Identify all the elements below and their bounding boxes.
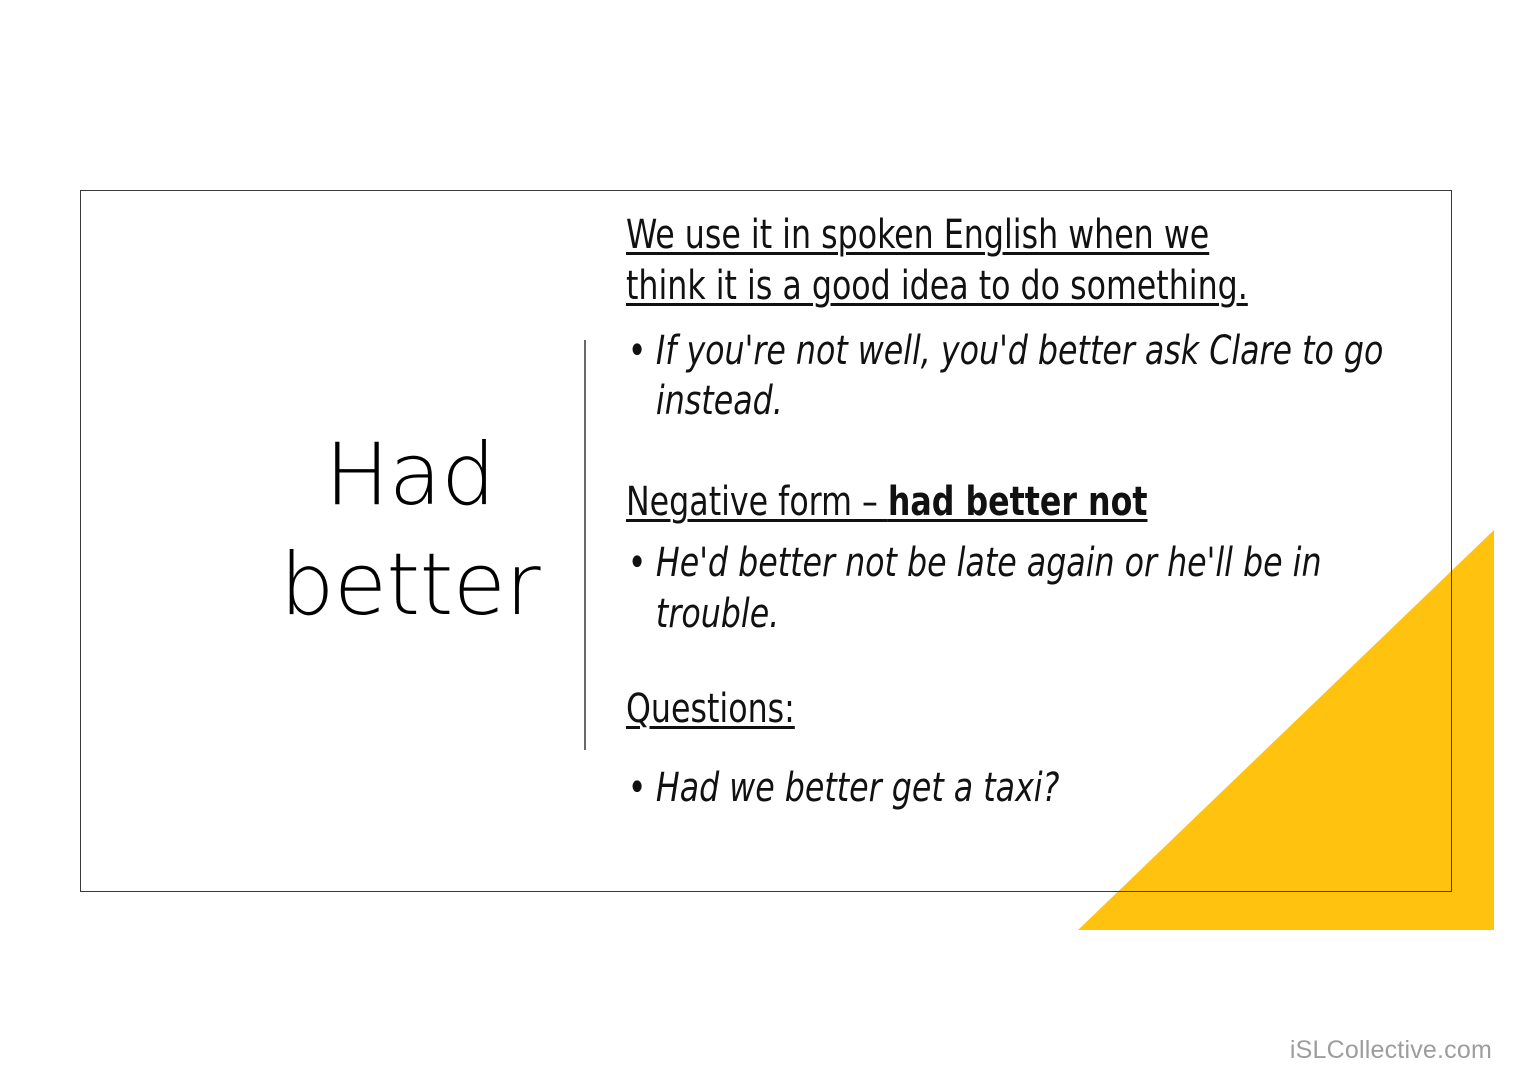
usage-bullet-list: • If you're not well, you'd better ask C… — [626, 326, 1412, 427]
list-item-label: Had we better get a taxi? — [656, 765, 1059, 811]
watermark: iSLCollective.com — [1290, 1036, 1492, 1065]
page-title: Had better — [150, 420, 670, 640]
negative-form-heading: Negative form – had better not — [626, 478, 1412, 526]
usage-explanation-line-2: think it is a good idea to do something. — [626, 263, 1248, 309]
questions-heading: Questions: — [626, 685, 1412, 733]
bullet-icon: • — [628, 763, 647, 813]
list-item-label: He'd better not be late again or he'll b… — [656, 540, 1322, 636]
usage-explanation-line-1: We use it in spoken English when we — [626, 212, 1209, 258]
vertical-divider — [584, 340, 586, 750]
list-item: • Had we better get a taxi? — [626, 763, 1412, 813]
negative-form-heading-bold: had better not — [888, 479, 1148, 525]
usage-explanation: We use it in spoken English when we thin… — [626, 210, 1412, 312]
bullet-icon: • — [628, 538, 647, 588]
content-column: We use it in spoken English when we thin… — [626, 210, 1416, 814]
title-line-2: better — [150, 530, 670, 640]
list-item: • If you're not well, you'd better ask C… — [626, 326, 1412, 427]
questions-heading-label: Questions: — [626, 686, 795, 732]
list-item: • He'd better not be late again or he'll… — [626, 538, 1412, 639]
negative-form-heading-prefix: Negative form – — [626, 479, 888, 525]
negative-bullet-list: • He'd better not be late again or he'll… — [626, 538, 1412, 639]
slide-canvas: Had better We use it in spoken English w… — [0, 0, 1532, 1083]
list-item-label: If you're not well, you'd better ask Cla… — [656, 328, 1383, 424]
title-line-1: Had — [150, 420, 670, 530]
questions-bullet-list: • Had we better get a taxi? — [626, 763, 1412, 813]
bullet-icon: • — [628, 326, 647, 376]
